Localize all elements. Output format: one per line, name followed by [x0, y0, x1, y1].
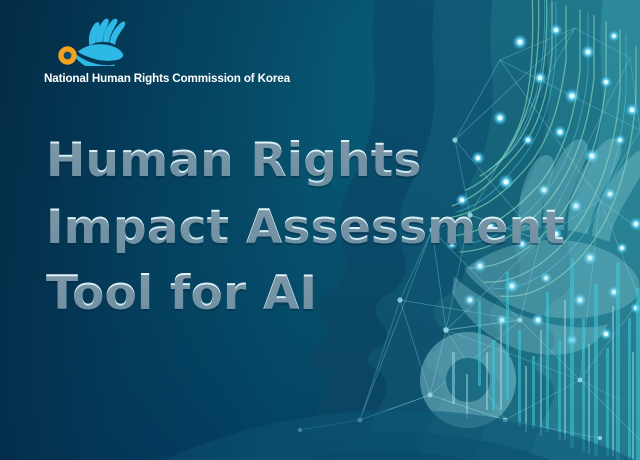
title-line-2: Impact Assessment — [46, 195, 565, 262]
organization-name: National Human Rights Commission of Kore… — [44, 71, 288, 85]
page-title: Human Rights Impact Assessment Tool for … — [46, 128, 565, 328]
title-line-3: Tool for AI — [46, 261, 565, 328]
title-line-1: Human Rights — [46, 128, 565, 195]
cover-graphic: National Human Rights Commission of Kore… — [0, 0, 640, 460]
hand-bird-logo-icon — [56, 18, 128, 66]
logo-block: National Human Rights Commission of Kore… — [44, 18, 304, 85]
